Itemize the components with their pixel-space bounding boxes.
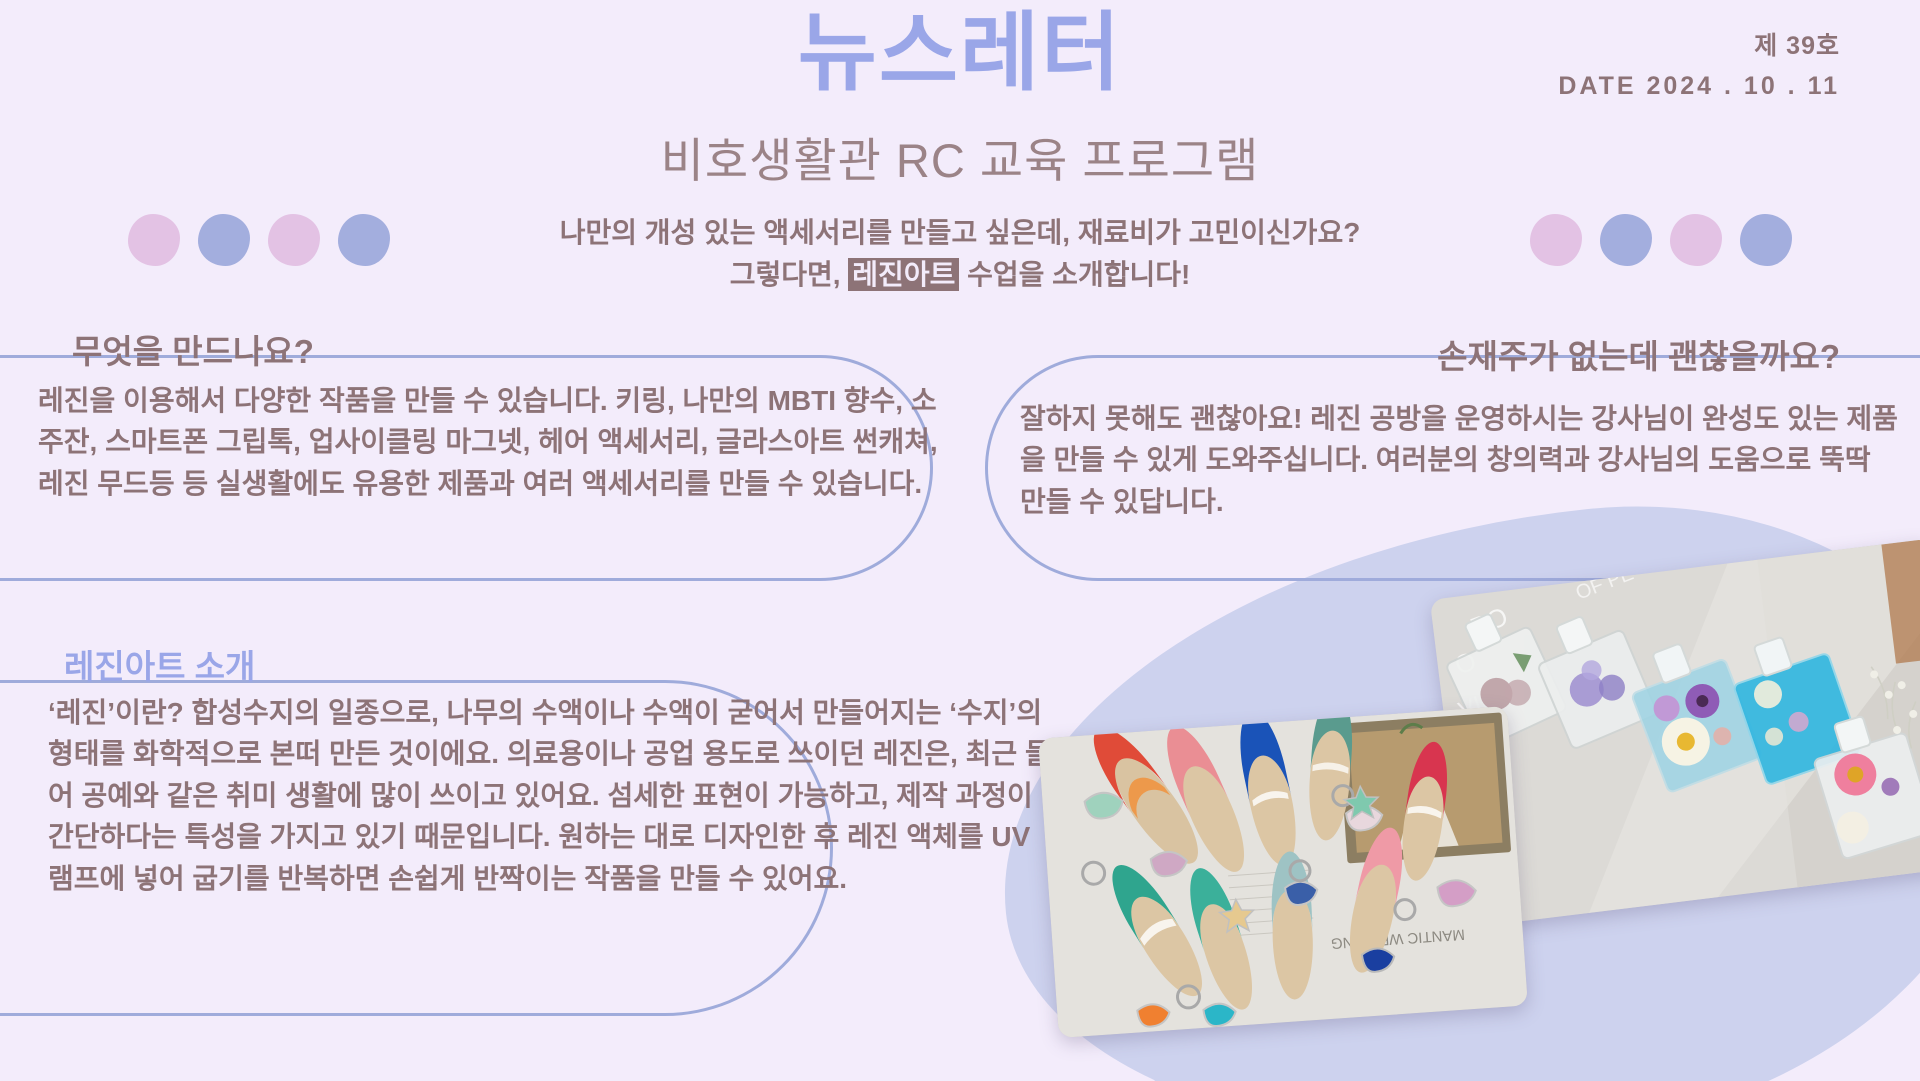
newsletter-page: 뉴스레터 제 39호 DATE 2024 . 10 . 11 비호생활관 RC …: [0, 0, 1920, 1081]
issue-number: 제 39호: [1558, 28, 1840, 64]
section-heading-make: 무엇을 만드나요?: [72, 325, 314, 373]
decorative-dot-icon: [198, 214, 250, 266]
issue-date: DATE 2024 . 10 . 11: [1558, 68, 1840, 104]
decorative-dot-icon: [1600, 214, 1652, 266]
decorative-dot-icon: [268, 214, 320, 266]
section-body-make: 레진을 이용해서 다양한 작품을 만들 수 있습니다. 키링, 나만의 MBTI…: [38, 380, 938, 504]
decorative-dot-icon: [128, 214, 180, 266]
tagline-suffix: 수업을 소개합니다!: [959, 259, 1190, 290]
page-subtitle: 비호생활관 RC 교육 프로그램: [0, 122, 1920, 191]
section-heading-intro: 레진아트 소개: [64, 640, 255, 688]
dot-cluster-right: [1530, 214, 1792, 266]
decorative-dot-icon: [338, 214, 390, 266]
keychains-photo-art: MANTIC WEDDING: [1038, 706, 1528, 1038]
tagline-highlight: 레진아트: [848, 258, 959, 291]
decorative-dot-icon: [1530, 214, 1582, 266]
tagline-prefix: 그렇다면,: [730, 259, 849, 290]
decorative-dot-icon: [1670, 214, 1722, 266]
issue-info: 제 39호 DATE 2024 . 10 . 11: [1558, 28, 1840, 105]
resin-surfboard-keychains-photo: MANTIC WEDDING: [1038, 706, 1528, 1038]
section-body-skill: 잘하지 못해도 괜찮아요! 레진 공방을 운영하시는 강사님이 완성도 있는 제…: [1020, 398, 1900, 522]
dot-cluster-left: [128, 214, 390, 266]
decorative-dot-icon: [1740, 214, 1792, 266]
section-body-intro: ‘레진’이란? 합성수지의 일종으로, 나무의 수액이나 수액이 굳어서 만들어…: [48, 692, 1053, 899]
section-heading-skill: 손재주가 없는데 괜찮을까요?: [1437, 330, 1840, 378]
